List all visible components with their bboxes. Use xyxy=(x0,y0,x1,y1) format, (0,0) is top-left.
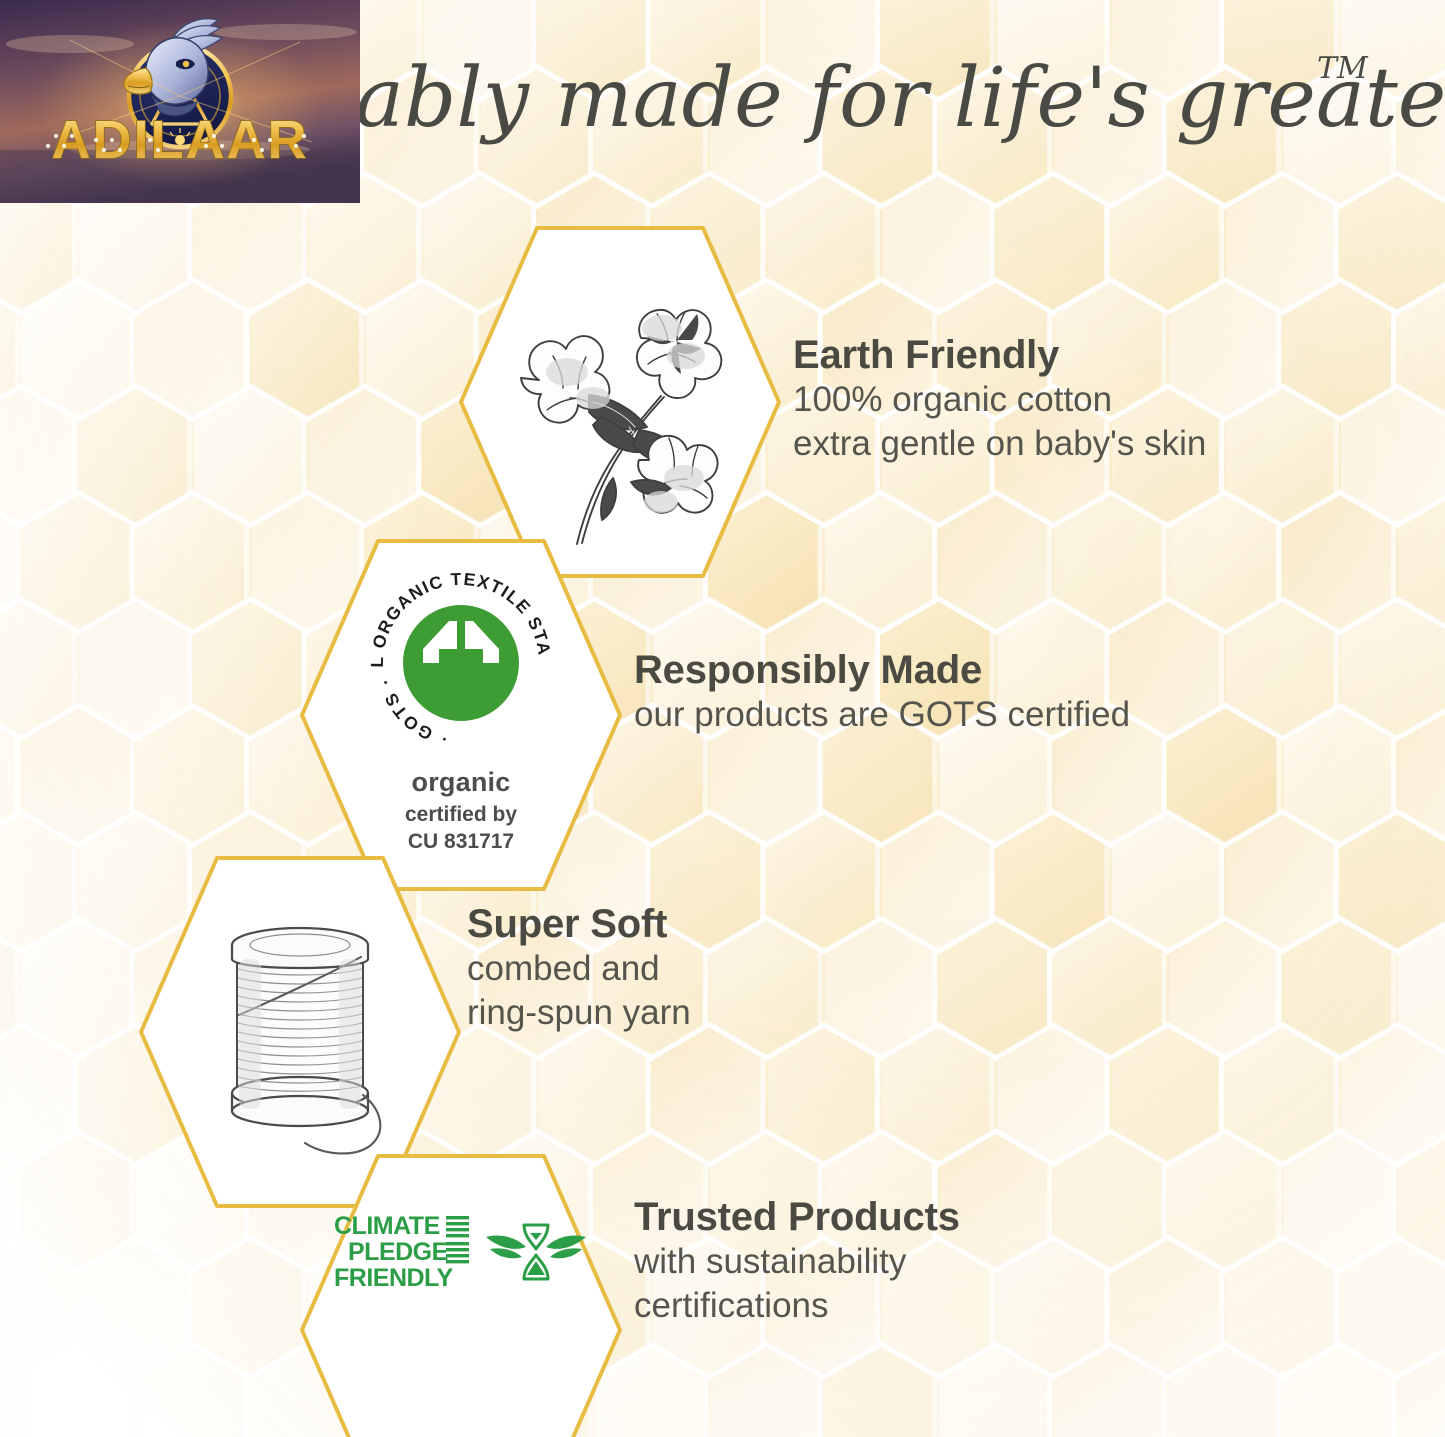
feature-line-2: certifications xyxy=(634,1284,960,1328)
gots-certified-by: certified by xyxy=(405,802,517,828)
thread-spool-illustration xyxy=(175,897,425,1167)
climate-pledge-friendly-logo: CLIMATE PLEDGE FRIENDLY xyxy=(334,1212,588,1292)
winged-hourglass-icon xyxy=(484,1219,588,1285)
gots-organic-label: organic xyxy=(412,767,511,798)
brand-logo[interactable]: ADILAAR xyxy=(0,0,360,203)
feature-title: Trusted Products xyxy=(634,1195,960,1240)
feature-text-trusted-products: Trusted Products with sustainability cer… xyxy=(634,1195,960,1328)
feature-card-trusted-products: CLIMATE PLEDGE FRIENDLY xyxy=(296,1150,626,1437)
feature-line-1: our products are GOTS certified xyxy=(634,693,1130,737)
marketing-infographic: Earth Friendly 100% organic cotton extra… xyxy=(0,0,1445,1437)
feature-card-responsibly-made: GLOBAL ORGANIC TEXTILE STANDARD · GOTS ·… xyxy=(296,535,626,895)
feature-line-1: combed and xyxy=(467,947,691,991)
cpf-line-3: FRIENDLY xyxy=(334,1264,454,1292)
feature-text-earth-friendly: Earth Friendly 100% organic cotton extra… xyxy=(793,333,1206,466)
feature-line-1: 100% organic cotton xyxy=(793,378,1206,422)
feature-line-1: with sustainability xyxy=(634,1240,960,1284)
feature-title: Responsibly Made xyxy=(634,648,1130,693)
cotton-branch-illustration xyxy=(481,252,759,552)
feature-line-2: ring-spun yarn xyxy=(467,991,691,1035)
feature-card-earth-friendly xyxy=(455,222,785,582)
cpf-line-1: CLIMATE xyxy=(334,1212,440,1240)
feature-title: Super Soft xyxy=(467,902,691,947)
feature-text-responsibly-made: Responsibly Made our products are GOTS c… xyxy=(634,648,1130,737)
gots-certification-badge: GLOBAL ORGANIC TEXTILE STANDARD · GOTS ·… xyxy=(361,563,561,855)
feature-text-super-soft: Super Soft combed and ring-spun yarn xyxy=(467,902,691,1035)
gots-certifier-code: CU 831717 xyxy=(405,829,517,855)
cpf-line-2: PLEDGE xyxy=(348,1238,448,1266)
feature-line-2: extra gentle on baby's skin xyxy=(793,422,1206,466)
feature-title: Earth Friendly xyxy=(793,333,1206,378)
